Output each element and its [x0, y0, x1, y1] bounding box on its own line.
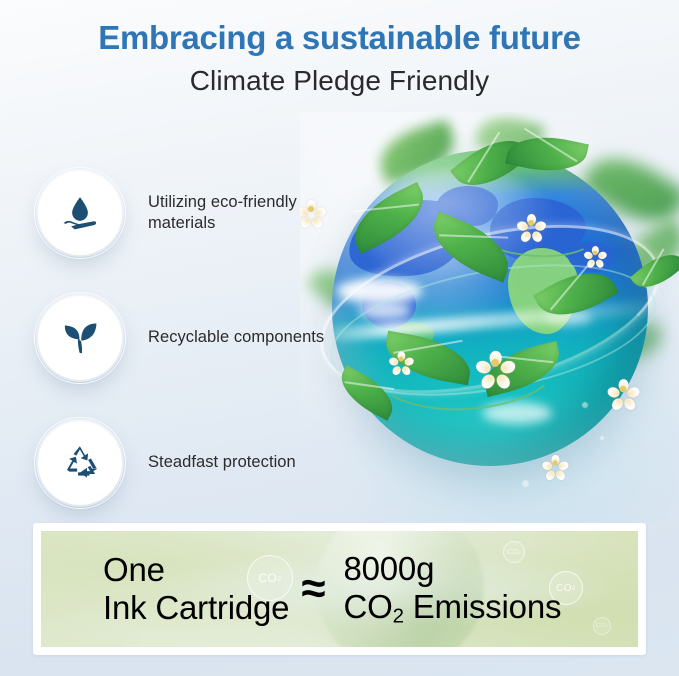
page-subtitle: Climate Pledge Friendly: [0, 64, 679, 99]
jasmine-flower-icon: [392, 350, 411, 369]
water-droplet: [560, 466, 565, 471]
promo-graphic: Embracing a sustainable future Climate P…: [0, 0, 679, 676]
jasmine-flower-icon: [520, 212, 542, 234]
heading-block: Embracing a sustainable future Climate P…: [0, 18, 679, 99]
water-drop-hand-icon: [59, 192, 101, 234]
jasmine-flower-icon: [586, 244, 603, 261]
co2-watermark-subscript: 2: [572, 585, 576, 592]
feature-list: Utilizing eco-friendly materials Recycla…: [0, 150, 330, 525]
sprout-leaves-icon: [59, 317, 101, 359]
water-droplet: [600, 436, 604, 440]
feature-icon-badge: [38, 171, 122, 255]
banner-right-line1: 8000g: [343, 550, 561, 588]
banner-right-line2: CO2 Emissions: [343, 588, 561, 628]
earth-globe-illustration: [300, 112, 679, 522]
co2-watermark-bubble: CO2: [593, 617, 611, 635]
feature-label: Steadfast protection: [148, 452, 296, 473]
recycle-icon: [59, 442, 101, 484]
feature-icon-badge: [38, 421, 122, 505]
water-droplet: [522, 480, 529, 487]
emissions-text: Emissions: [404, 588, 562, 625]
water-droplet: [582, 402, 588, 408]
banner-left-text: One Ink Cartridge: [103, 551, 289, 628]
feature-label: Utilizing eco-friendly materials: [148, 192, 330, 233]
jasmine-flower-icon: [611, 377, 635, 401]
globe: [332, 150, 648, 466]
feature-icon-badge: [38, 296, 122, 380]
banner-right-text: 8000g CO2 Emissions: [343, 550, 561, 628]
co2-comparison-banner: CO2 CO2 CO2 CO2 One Ink Cartridge ≈ 8000…: [33, 523, 646, 655]
banner-inner: CO2 CO2 CO2 CO2 One Ink Cartridge ≈ 8000…: [41, 531, 638, 647]
co2-watermark-subscript: 2: [606, 624, 608, 628]
approximately-equal-symbol: ≈: [301, 567, 325, 611]
banner-left-line2: Ink Cartridge: [103, 589, 289, 627]
banner-left-line1: One: [103, 551, 289, 589]
page-title: Embracing a sustainable future: [0, 18, 679, 58]
feature-item-steadfast-protection: Steadfast protection: [0, 400, 330, 525]
feature-label: Recyclable components: [148, 327, 324, 348]
feature-item-eco-materials: Utilizing eco-friendly materials: [0, 150, 330, 275]
jasmine-flower-icon: [480, 348, 510, 378]
co2-text: CO: [343, 588, 392, 625]
co2-watermark-text: CO: [596, 623, 606, 629]
feature-item-recyclable-components: Recyclable components: [0, 275, 330, 400]
co2-subscript: 2: [393, 605, 404, 628]
